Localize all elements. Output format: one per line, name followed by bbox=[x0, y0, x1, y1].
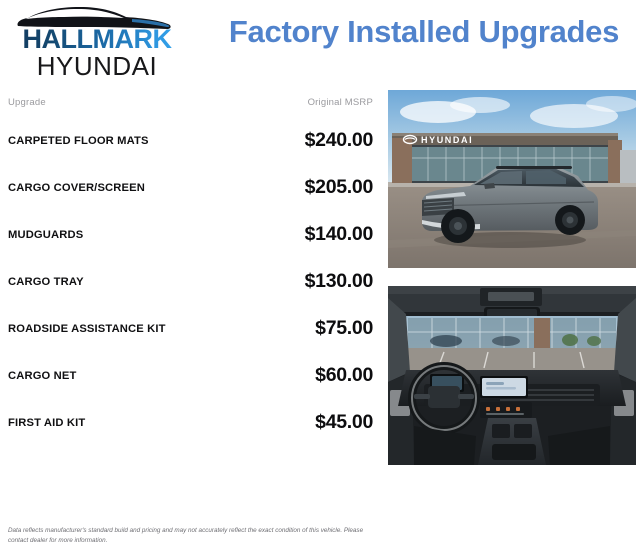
upgrade-price: $60.00 bbox=[315, 364, 380, 387]
vehicle-exterior-photo: HYUNDAI bbox=[388, 90, 636, 268]
upgrade-price: $240.00 bbox=[305, 129, 380, 152]
upgrade-name: CARGO NET bbox=[0, 370, 76, 382]
table-body: CARPETED FLOOR MATS$240.00CARGO COVER/SC… bbox=[0, 117, 380, 446]
dealer-logo[interactable]: HALLMARK HYUNDAI bbox=[8, 4, 198, 80]
table-row: CARGO COVER/SCREEN$205.00 bbox=[0, 164, 380, 211]
column-header-original-msrp: Original MSRP bbox=[308, 97, 373, 108]
table-row: CARGO TRAY$130.00 bbox=[0, 258, 380, 305]
upgrade-price: $140.00 bbox=[305, 223, 380, 246]
table-row: FIRST AID KIT$45.00 bbox=[0, 399, 380, 446]
upgrade-name: FIRST AID KIT bbox=[0, 417, 85, 429]
page-title: Factory Installed Upgrades bbox=[214, 14, 634, 50]
table-row: ROADSIDE ASSISTANCE KIT$75.00 bbox=[0, 305, 380, 352]
upgrade-price: $130.00 bbox=[305, 270, 380, 293]
table-row: CARGO NET$60.00 bbox=[0, 352, 380, 399]
column-header-upgrade: Upgrade bbox=[8, 97, 46, 108]
upgrade-name: CARGO COVER/SCREEN bbox=[0, 182, 145, 194]
table-row: CARPETED FLOOR MATS$240.00 bbox=[0, 117, 380, 164]
upgrades-table: Upgrade Original MSRP CARPETED FLOOR MAT… bbox=[0, 88, 380, 438]
disclaimer-text: Data reflects manufacturer's standard bu… bbox=[8, 526, 374, 546]
upgrade-name: MUDGUARDS bbox=[0, 229, 83, 241]
upgrade-price: $45.00 bbox=[315, 411, 380, 434]
table-header-row: Upgrade Original MSRP bbox=[0, 97, 380, 113]
page-header: HALLMARK HYUNDAI Factory Installed Upgra… bbox=[0, 0, 640, 88]
logo-brand-hyundai: HYUNDAI bbox=[12, 53, 182, 79]
vehicle-interior-photo bbox=[388, 286, 636, 465]
upgrade-price: $205.00 bbox=[305, 176, 380, 199]
table-row: MUDGUARDS$140.00 bbox=[0, 211, 380, 258]
upgrade-price: $75.00 bbox=[315, 317, 380, 340]
svg-text:HYUNDAI: HYUNDAI bbox=[421, 135, 473, 145]
logo-brand-hallmark: HALLMARK bbox=[12, 26, 182, 53]
upgrade-name: CARPETED FLOOR MATS bbox=[0, 135, 149, 147]
upgrade-name: CARGO TRAY bbox=[0, 276, 84, 288]
upgrade-name: ROADSIDE ASSISTANCE KIT bbox=[0, 323, 166, 335]
